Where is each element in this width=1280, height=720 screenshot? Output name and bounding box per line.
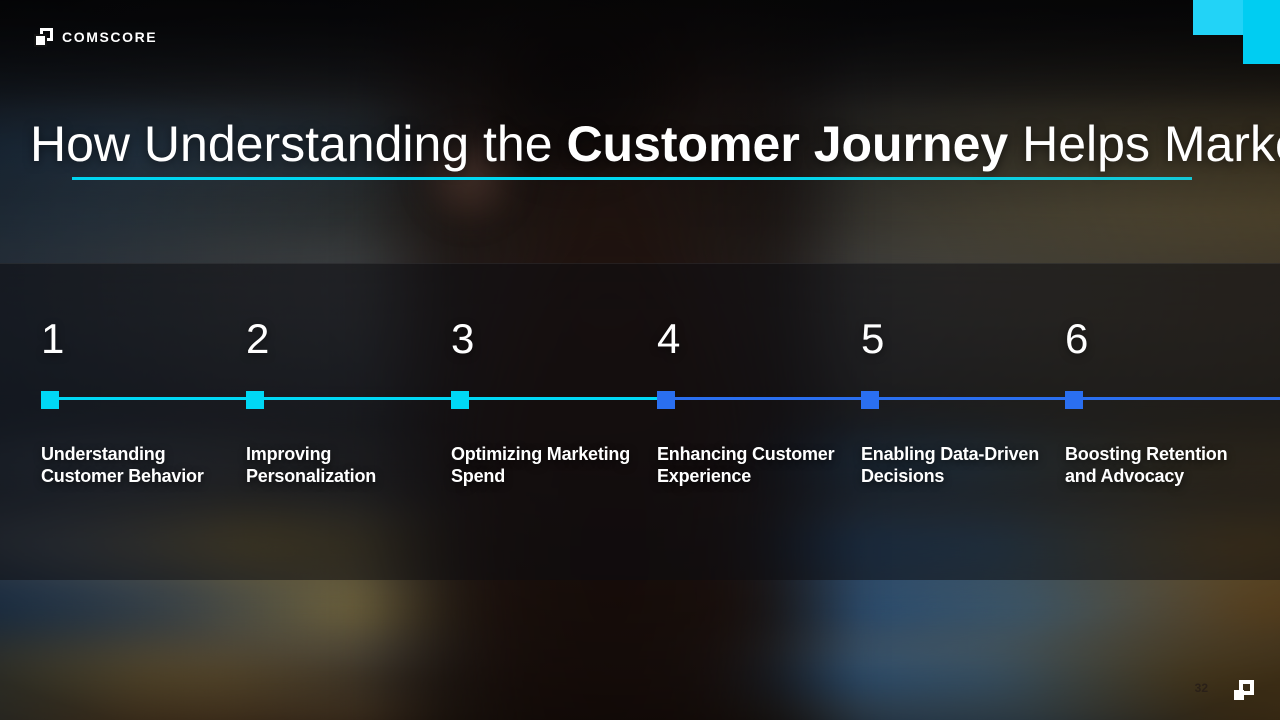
page-number: 32: [1195, 681, 1208, 695]
comscore-square-mark-icon: [36, 28, 53, 45]
decor-square-top-left: [1193, 0, 1245, 35]
title-part-1: How Understanding the: [30, 116, 566, 172]
decor-square-top-right: [1243, 0, 1280, 64]
brand-logo-text: COMSCORE: [62, 29, 157, 45]
title-emphasis: Customer Journey: [566, 116, 1008, 172]
timeline-step-label: Enabling Data-Driven Decisions: [861, 443, 1051, 487]
timeline-step-marker[interactable]: [1065, 391, 1083, 409]
timeline-step-number: 5: [861, 318, 884, 360]
timeline-step-number: 4: [657, 318, 680, 360]
timeline-step-label: Enhancing Customer Experience: [657, 443, 847, 487]
timeline-step-number: 6: [1065, 318, 1088, 360]
slide: COMSCORE How Understanding the Customer …: [0, 0, 1280, 720]
timeline-step-label: Optimizing Marketing Spend: [451, 443, 641, 487]
timeline: 1Understanding Customer Behavior2Improvi…: [0, 263, 1280, 580]
timeline-step-number: 3: [451, 318, 474, 360]
timeline-step-marker[interactable]: [246, 391, 264, 409]
brand-logo: COMSCORE: [36, 28, 157, 45]
timeline-step-number: 1: [41, 318, 64, 360]
timeline-track: [0, 397, 1280, 400]
timeline-step-marker[interactable]: [41, 391, 59, 409]
timeline-track-blue: [657, 397, 1280, 400]
footer-comscore-square-mark-icon: [1234, 680, 1254, 700]
timeline-step-marker[interactable]: [451, 391, 469, 409]
timeline-step-label: Improving Personalization: [246, 443, 436, 487]
timeline-step-label: Understanding Customer Behavior: [41, 443, 231, 487]
timeline-step-marker[interactable]: [861, 391, 879, 409]
timeline-step-label: Boosting Retention and Advocacy: [1065, 443, 1255, 487]
timeline-step-marker[interactable]: [657, 391, 675, 409]
title-underline: [72, 177, 1192, 180]
title-part-2: Helps Marketers: [1008, 116, 1280, 172]
page-title: How Understanding the Customer Journey H…: [30, 113, 1255, 175]
timeline-track-cyan: [41, 397, 666, 400]
timeline-step-number: 2: [246, 318, 269, 360]
